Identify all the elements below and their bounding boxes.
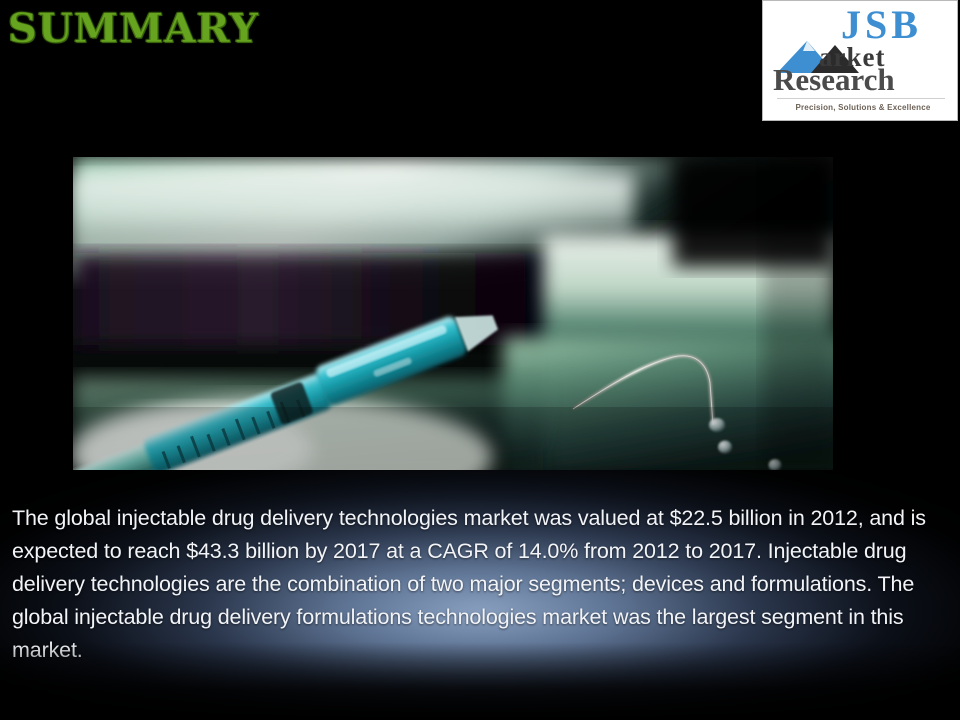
- summary-paragraph: The global injectable drug delivery tech…: [12, 502, 952, 667]
- logo-research-text: Research: [773, 63, 895, 97]
- logo-tagline: Precision, Solutions & Excellence: [778, 102, 948, 114]
- logo-divider: [777, 98, 945, 99]
- page-title: Summary: [8, 6, 259, 52]
- syringe-photo: [73, 157, 833, 470]
- jsb-market-research-logo: JSB arket Research Precision, Solutions …: [762, 0, 958, 121]
- presentation-slide: Summary JSB arket Research Precision, So…: [0, 0, 960, 720]
- syringe-illustration: [73, 157, 833, 470]
